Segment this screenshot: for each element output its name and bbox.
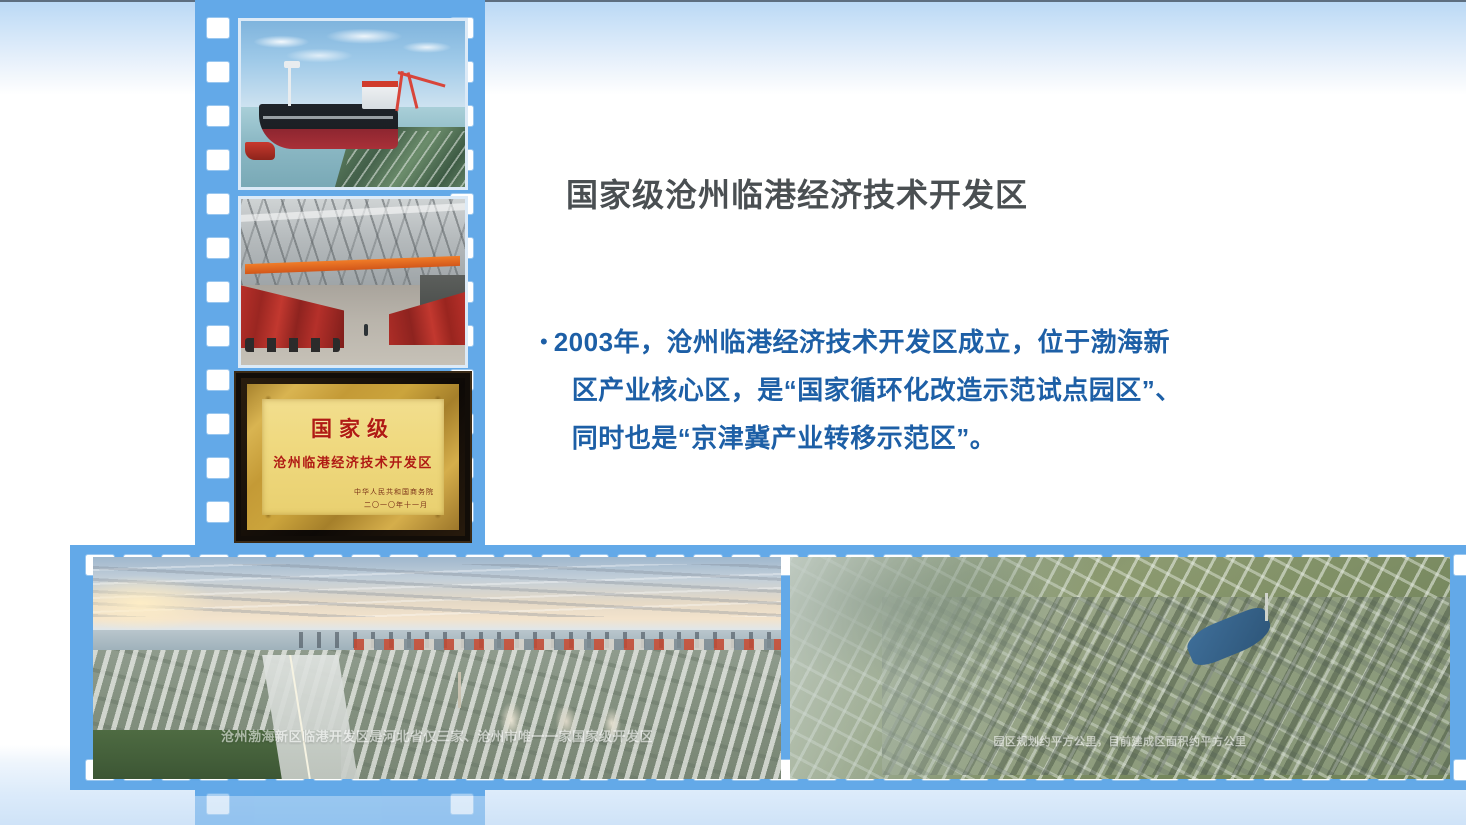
photo-truck-factory	[238, 196, 468, 368]
presentation-slide: 国家级 沧州临港经济技术开发区 中华人民共和国商务院 二〇一〇年十一月 沧州渤海…	[0, 0, 1466, 825]
sprocket-hole	[207, 326, 229, 346]
plaque-subtitle-line: 沧州临港经济技术开发区	[273, 452, 433, 471]
tugboat	[245, 142, 274, 160]
ship-hull	[259, 104, 398, 149]
sprocket-hole	[207, 458, 229, 478]
bullet-item: • 2003年，沧州临港经济技术开发区成立，位于渤海新 区产业核心区，是“国家循…	[540, 318, 1340, 462]
sprocket-hole	[207, 18, 229, 38]
aerial-photo-caption: 园区规划约平方公里，目前建成区面积约平方公里	[790, 733, 1450, 749]
plaque-text-group: 国家级 沧州临港经济技术开发区 中华人民共和国商务院 二〇一〇年十一月	[262, 399, 444, 515]
factory-worker	[364, 324, 368, 336]
city-chimney	[458, 672, 461, 708]
sprocket-hole	[1454, 555, 1466, 575]
slide-title: 国家级沧州临港经济技术开发区	[566, 170, 1386, 216]
sprocket-hole	[207, 414, 229, 434]
body-line-2: 区产业核心区，是“国家循环化改造示范试点园区”、	[554, 366, 1182, 414]
photo-cargo-ship	[238, 18, 468, 190]
body-line-3: 同时也是“京津冀产业转移示范区”。	[554, 414, 1182, 462]
sprocket-hole	[207, 794, 229, 814]
bullet-marker: •	[540, 318, 548, 366]
sprocket-hole	[207, 150, 229, 170]
aerial-chimney	[1265, 593, 1268, 622]
sprocket-hole	[207, 194, 229, 214]
sprocket-hole	[207, 370, 229, 390]
photo-industrial-park-rendering: 园区规划约平方公里，目前建成区面积约平方公里	[790, 557, 1450, 779]
ship-mast-platform	[284, 61, 300, 68]
ship-funnel-stripe	[362, 81, 398, 88]
sprocket-hole	[1454, 760, 1466, 780]
sprocket-hole	[207, 502, 229, 522]
ship-clouds	[241, 28, 465, 74]
sprocket-hole	[451, 794, 473, 814]
truck-wheels	[245, 338, 339, 351]
body-line-1: 2003年，沧州临港经济技术开发区成立，位于渤海新	[554, 318, 1182, 366]
bullet-paragraph: 2003年，沧州临港经济技术开发区成立，位于渤海新 区产业核心区，是“国家循环化…	[554, 318, 1182, 462]
sprocket-hole	[207, 282, 229, 302]
city-sun-glow	[93, 575, 217, 633]
plaque-issuer: 中华人民共和国商务院	[354, 487, 434, 497]
filmstrip-stub-holes-right	[451, 790, 473, 825]
plaque-date: 二〇一〇年十一月	[364, 500, 428, 510]
ship-deck-line	[263, 116, 393, 119]
photo-port-city-rendering: 沧州渤海新区临港开发区是河北省仅三家、沧州市唯一一家国家级开发区	[93, 557, 781, 779]
filmstrip-stub-holes-left	[207, 790, 229, 825]
city-photo-caption: 沧州渤海新区临港开发区是河北省仅三家、沧州市唯一一家国家级开发区	[93, 726, 781, 745]
sprocket-hole	[207, 62, 229, 82]
photo-award-plaque: 国家级 沧州临港经济技术开发区 中华人民共和国商务院 二〇一〇年十一月	[234, 371, 472, 543]
plaque-title-line: 国家级	[311, 413, 395, 443]
sprocket-hole	[207, 106, 229, 126]
vertical-filmstrip-bottom-stub	[195, 790, 485, 825]
sprocket-hole	[207, 238, 229, 258]
ship-mast	[288, 63, 291, 106]
slide-body: • 2003年，沧州临港经济技术开发区成立，位于渤海新 区产业核心区，是“国家循…	[540, 318, 1340, 462]
